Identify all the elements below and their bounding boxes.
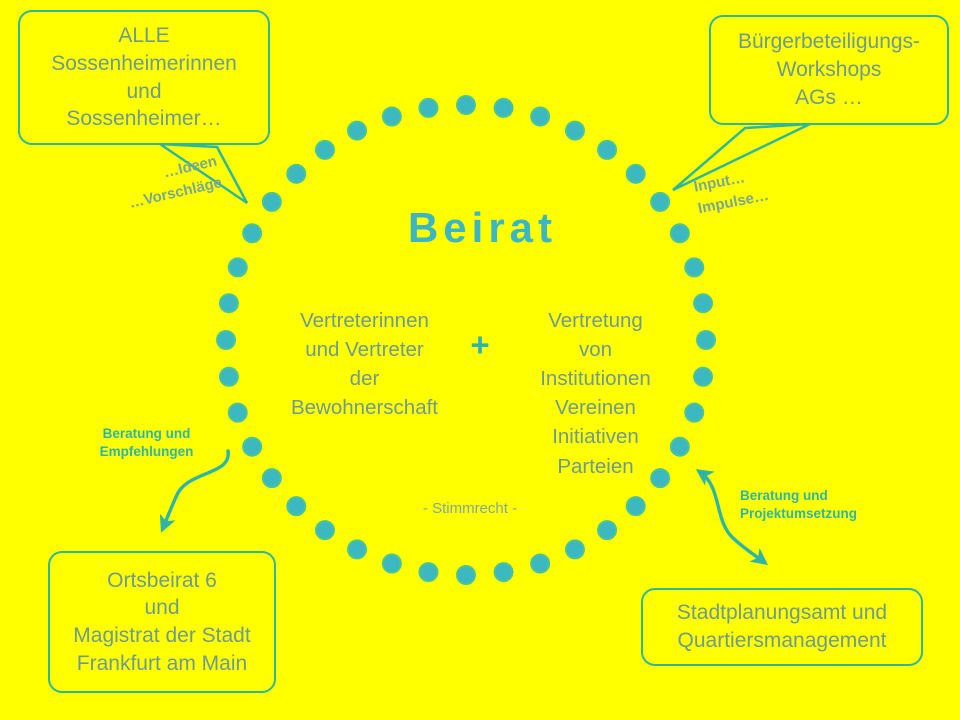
- ring-dot: [419, 563, 437, 581]
- ring-dot: [348, 122, 366, 140]
- annotation-beratung-empfehlungen-line-1: Beratung und: [74, 425, 219, 443]
- ring-dot: [531, 108, 549, 126]
- ring-dot: [220, 294, 238, 312]
- center-left-line-1: Vertreterinnen: [272, 306, 457, 335]
- center-right-line-3: Institutionen: [503, 364, 688, 393]
- ring-dot: [566, 540, 584, 558]
- center-left-line-2: und Vertreter: [272, 335, 457, 364]
- ring-dot: [457, 566, 475, 584]
- ring-dot: [348, 540, 366, 558]
- box-stadtplanungsamt-line-2: Quartiersmanagement: [651, 627, 913, 655]
- bubble-residents-line-3: und: [28, 78, 260, 106]
- center-right-line-4: Vereinen: [503, 393, 688, 422]
- ring-dot: [316, 521, 334, 539]
- ring-dot: [383, 108, 401, 126]
- ring-dot: [495, 99, 513, 117]
- box-ortsbeirat[interactable]: Ortsbeirat 6 und Magistrat der Stadt Fra…: [48, 551, 276, 693]
- box-ortsbeirat-line-2: und: [58, 594, 266, 622]
- ring-dot: [229, 258, 247, 276]
- center-right-column: Vertretung von Institutionen Vereinen In…: [503, 306, 688, 481]
- annotation-beratung-projekt-line-1: Beratung und: [740, 487, 920, 505]
- center-left-column: Vertreterinnen und Vertreter der Bewohne…: [272, 306, 457, 422]
- bubble-workshops-line-1: Bürgerbeteiligungs-: [719, 28, 939, 56]
- ring-dot: [316, 141, 334, 159]
- ring-dot: [566, 122, 584, 140]
- plus-icon: +: [457, 306, 503, 361]
- box-stadtplanungsamt-line-1: Stadtplanungsamt und: [651, 599, 913, 627]
- annotation-beratung-empfehlungen-line-2: Empfehlungen: [74, 443, 219, 461]
- ring-dot: [217, 331, 235, 349]
- ring-dot: [287, 497, 305, 515]
- center-right-line-1: Vertretung: [503, 306, 688, 335]
- center-right-line-5: Initiativen: [503, 422, 688, 451]
- center-left-line-4: Bewohnerschaft: [272, 393, 457, 422]
- annotation-beratung-projektumsetzung: Beratung und Projektumsetzung: [740, 487, 920, 523]
- bubble-workshops-line-3: AGs …: [719, 84, 939, 112]
- arrow-beratung-empfehlungen: [163, 451, 228, 528]
- bubble-workshops-line-2: Workshops: [719, 56, 939, 84]
- ring-dot: [598, 521, 616, 539]
- ring-dot: [627, 497, 645, 515]
- diagram-canvas: ALLE Sossenheimerinnen und Sossenheimer……: [0, 0, 960, 720]
- center-title-text: Beirat: [403, 204, 557, 251]
- ring-dot: [495, 563, 513, 581]
- ring-dot: [383, 555, 401, 573]
- ring-dot: [287, 165, 305, 183]
- box-ortsbeirat-line-1: Ortsbeirat 6: [58, 567, 266, 595]
- center-right-line-2: von: [503, 335, 688, 364]
- stimmrecht-note: - Stimmrecht -: [330, 500, 610, 517]
- ring-dot: [419, 99, 437, 117]
- bubble-residents-line-4: Sossenheimer…: [28, 105, 260, 133]
- bubble-residents[interactable]: ALLE Sossenheimerinnen und Sossenheimer…: [18, 10, 270, 145]
- ring-dot: [685, 258, 703, 276]
- center-left-line-3: der: [272, 364, 457, 393]
- center-right-line-6: Parteien: [503, 452, 688, 481]
- center-columns: Vertreterinnen und Vertreter der Bewohne…: [250, 306, 710, 481]
- ring-dot: [627, 165, 645, 183]
- annotation-beratung-empfehlungen: Beratung und Empfehlungen: [74, 425, 219, 461]
- box-stadtplanungsamt[interactable]: Stadtplanungsamt und Quartiersmanagement: [641, 588, 923, 666]
- ring-dot: [457, 96, 475, 114]
- ring-dot: [229, 404, 247, 422]
- annotation-beratung-projekt-line-2: Projektumsetzung: [740, 505, 920, 523]
- ring-dot: [598, 141, 616, 159]
- bubble-workshops[interactable]: Bürgerbeteiligungs- Workshops AGs …: [709, 15, 949, 125]
- bubble-residents-line-1: ALLE: [28, 22, 260, 50]
- bubble-residents-line-2: Sossenheimerinnen: [28, 50, 260, 78]
- box-ortsbeirat-line-3: Magistrat der Stadt: [58, 622, 266, 650]
- box-ortsbeirat-line-4: Frankfurt am Main: [58, 650, 266, 678]
- ring-dot: [531, 555, 549, 573]
- ring-dot: [220, 368, 238, 386]
